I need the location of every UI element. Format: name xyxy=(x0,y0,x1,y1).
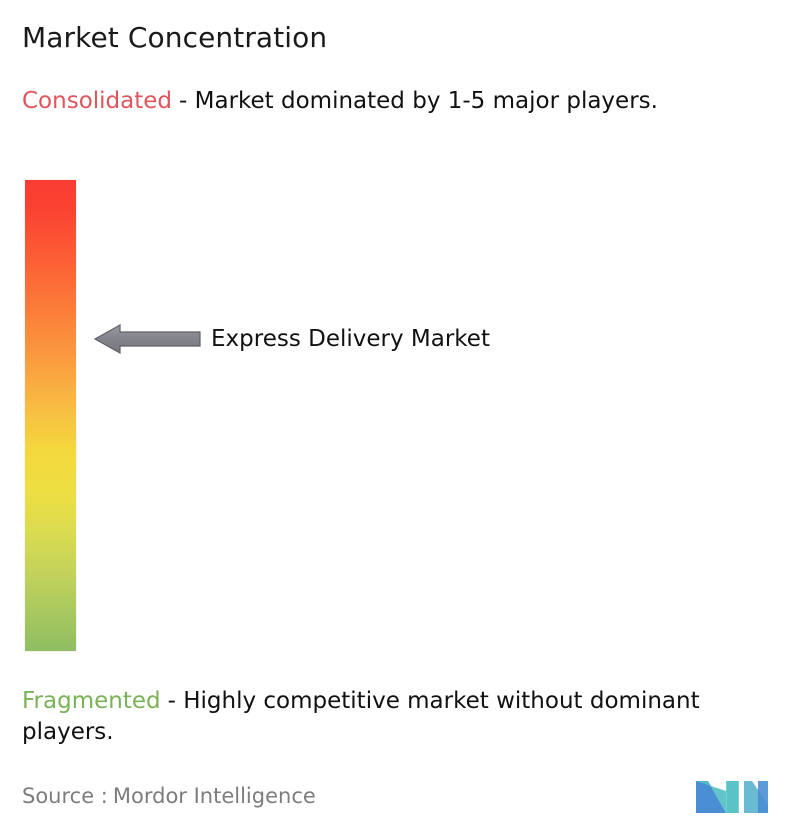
market-concentration-infographic: Market Concentration Consolidated- Marke… xyxy=(0,0,796,834)
market-marker-label: Express Delivery Market xyxy=(211,318,490,360)
legend-fragmented: Fragmented- Highly competitive market wi… xyxy=(22,686,792,748)
legend-consolidated: Consolidated- Market dominated by 1-5 ma… xyxy=(22,86,774,117)
legend-fragmented-keyword: Fragmented xyxy=(22,688,161,714)
source-attribution: Source :Mordor Intelligence xyxy=(22,782,316,810)
page-title: Market Concentration xyxy=(22,21,327,55)
arrow-left-icon xyxy=(94,323,202,355)
legend-consolidated-keyword: Consolidated xyxy=(22,88,172,114)
market-marker: Express Delivery Market xyxy=(94,318,614,360)
concentration-gradient-scale xyxy=(25,180,76,651)
source-label: Source : xyxy=(22,784,108,808)
source-name: Mordor Intelligence xyxy=(113,784,316,808)
mordor-intelligence-logo xyxy=(694,771,770,815)
legend-consolidated-description: - Market dominated by 1-5 major players. xyxy=(179,88,658,114)
